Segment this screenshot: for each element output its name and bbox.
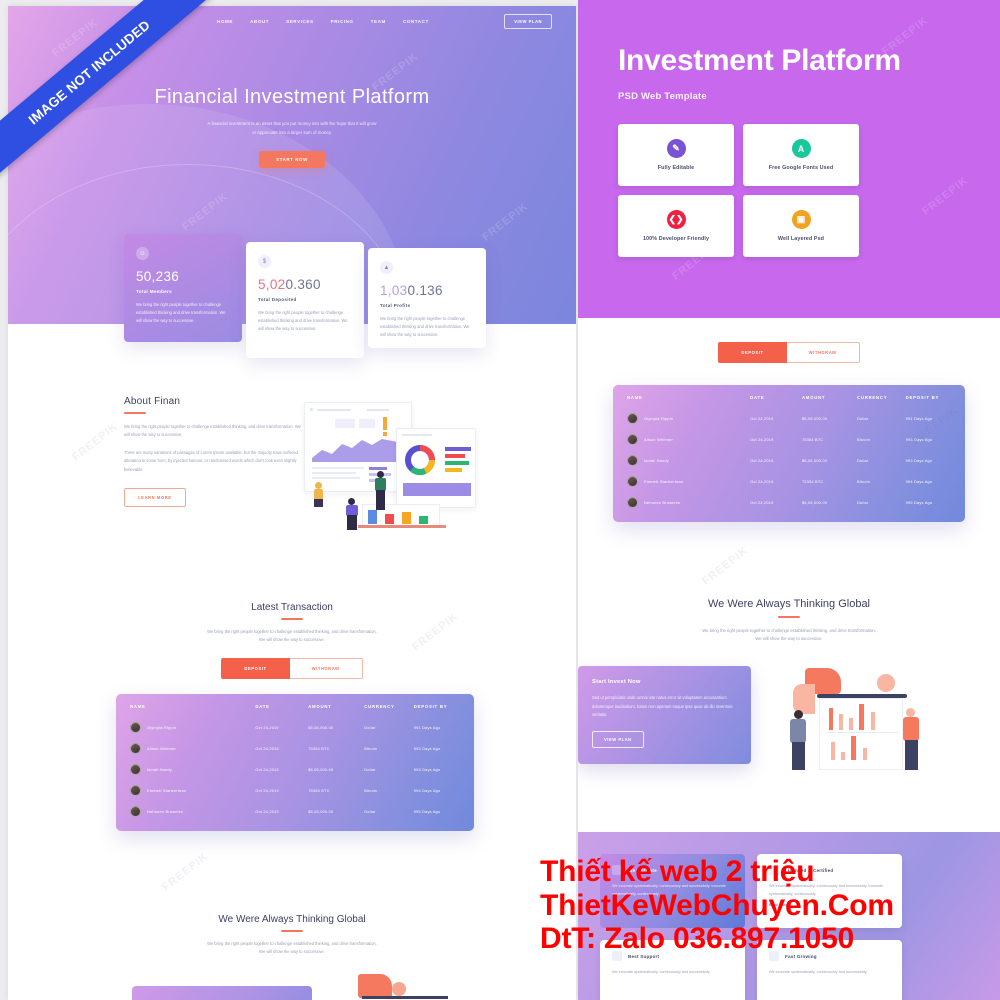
column-deposit-by: DEPOSIT BY	[906, 395, 951, 400]
column-amount: AMOUNT	[308, 704, 364, 709]
nav-item-home[interactable]: HOME	[217, 19, 233, 24]
stat-value-highlight: 5,02	[258, 277, 285, 292]
hero-subtitle-line1: A financial investment is an asset that …	[8, 120, 576, 129]
cell-deposit-by: 993 Days Ago	[414, 767, 460, 772]
stat-value-rest: 0.136	[407, 283, 442, 298]
cell-date: Oct 24,2019	[255, 809, 308, 814]
cell-amount: $5,05,000.00	[308, 725, 364, 730]
illustration-person-left	[787, 710, 811, 772]
avatar	[627, 455, 638, 466]
feature-label: 100% Developer Friendly	[643, 236, 709, 242]
right-global-section: We Were Always Thinking Global We bring …	[578, 580, 1000, 778]
about-title: About Finan	[124, 396, 304, 407]
global-subtitle-line1: We bring the right people together to ch…	[8, 940, 576, 949]
column-currency: CURRENCY	[364, 704, 414, 709]
cell-name: Alison Whitmer	[130, 743, 255, 754]
stat-label: Total Members	[136, 289, 230, 294]
avatar	[627, 413, 638, 424]
table-row[interactable]: Nehonee Brownies Oct 24,2019 $5,05,000.0…	[116, 801, 474, 831]
table-header-row: NAME DATE AMOUNT CURRENCY DEPOSIT BY	[116, 694, 474, 717]
cell-currency: Bitcoin	[857, 479, 906, 484]
stat-value-rest: 0.360	[285, 277, 320, 292]
avatar	[130, 743, 141, 754]
stat-label: Total Profits	[380, 303, 474, 308]
right-transaction-toggle: DEPOSIT WITHDRAW	[578, 342, 1000, 363]
illustration-person-1	[313, 482, 325, 512]
stat-text: We bring the right people together to ch…	[380, 315, 474, 340]
cell-amount: 75354 BTC	[802, 437, 857, 442]
start-now-button[interactable]: START NOW	[259, 151, 325, 168]
illustration-tray-base	[358, 525, 446, 528]
cell-currency: Bitcoin	[857, 437, 906, 442]
avatar	[130, 722, 141, 733]
stat-text: We bring the right people together to ch…	[136, 301, 230, 326]
illustration-person-2	[374, 471, 388, 513]
font-a-icon: A	[792, 139, 811, 158]
table-row[interactable]: Nehonee Brownies Oct 24,2019 $5,05,000.0…	[613, 492, 965, 522]
global-illustration	[783, 666, 938, 778]
cell-currency: Dollar	[364, 767, 414, 772]
cell-deposit-by: 994 Days Ago	[414, 788, 460, 793]
table-row[interactable]: Olympia Rippin Oct 24,2019 $5,05,000.00 …	[116, 717, 474, 738]
cell-amount: 75354 BTC	[308, 746, 364, 751]
cell-amount: $5,05,000.00	[802, 458, 857, 463]
global-illustration-left	[338, 974, 458, 1000]
cell-date: Oct 24,2019	[750, 500, 802, 505]
cell-date: Oct 24,2019	[750, 437, 802, 442]
stat-text: We bring the right people together to ch…	[258, 309, 352, 334]
transactions-table: NAME DATE AMOUNT CURRENCY DEPOSIT BY Oly…	[116, 694, 474, 831]
column-date: DATE	[255, 704, 308, 709]
feature-card-google-fonts[interactable]: A Free Google Fonts Used	[743, 124, 859, 186]
cell-amount: $5,05,000.00	[802, 416, 857, 421]
top-navigation: HOME ABOUT SERVICES PRICING TEAM CONTACT…	[8, 6, 576, 36]
cell-amount: 75354 BTC	[802, 479, 857, 484]
avatar	[130, 764, 141, 775]
table-row[interactable]: Alison Whitmer Oct 24,2019 75354 BTC Bit…	[613, 429, 965, 450]
cell-date: Oct 24,2019	[255, 788, 308, 793]
transaction-type-toggle: DEPOSIT WITHDRAW	[8, 658, 576, 679]
table-row[interactable]: Ismail Handy Oct 24,2019 $5,05,000.00 Do…	[613, 450, 965, 471]
cell-name: Nehonee Brownies	[130, 806, 255, 817]
stats-cards: ☺ 50,236 Total Members We bring the righ…	[124, 242, 486, 358]
stock-watermark: FREEPIK	[160, 850, 210, 893]
pencil-edit-icon: ✎	[667, 139, 686, 158]
hero-content: Financial Investment Platform A financia…	[8, 86, 576, 168]
nav-item-services[interactable]: SERVICES	[286, 19, 314, 24]
transactions-title: Latest Transaction	[8, 602, 576, 613]
feature-cards: ✎ Fully Editable A Free Google Fonts Use…	[578, 102, 1000, 257]
cell-currency: Dollar	[857, 416, 906, 421]
right-transactions-table: NAME DATE AMOUNT CURRENCY DEPOSIT BY Oly…	[613, 385, 965, 522]
tab-withdraw[interactable]: WITHDRAW	[787, 342, 860, 363]
stat-value: 1,030.136	[380, 283, 474, 298]
stock-watermark: FREEPIK	[480, 200, 530, 243]
tab-withdraw[interactable]: WITHDRAW	[290, 658, 363, 679]
cell-date: Oct 24,2019	[255, 767, 308, 772]
feature-card-developer-friendly[interactable]: ❮❯ 100% Developer Friendly	[618, 195, 734, 257]
stock-watermark: FREEPIK	[180, 190, 230, 233]
feature-card-well-layered[interactable]: ▣ Well Layered Psd	[743, 195, 859, 257]
cell-amount: $5,05,000.00	[802, 500, 857, 505]
cell-name: Emmett Stankerbran	[130, 785, 255, 796]
stat-card-deposited[interactable]: $ 5,020.360 Total Deposited We bring the…	[246, 242, 364, 358]
title-underline	[281, 618, 303, 620]
transactions-subtitle-line1: We bring the right people together to ch…	[8, 628, 576, 637]
title-underline	[281, 930, 303, 932]
global-subtitle-line2: We will show the way to successive.	[578, 635, 1000, 644]
feature-card-fully-editable[interactable]: ✎ Fully Editable	[618, 124, 734, 186]
stat-card-members[interactable]: ☺ 50,236 Total Members We bring the righ…	[124, 234, 242, 342]
bottom-card-text: We innovate systematically, continuously…	[612, 969, 733, 977]
column-date: DATE	[750, 395, 802, 400]
feature-label: Free Google Fonts Used	[769, 165, 834, 171]
screenshot-stage: FREEPIK FREEPIK FREEPIK FREEPIK HOME ABO…	[0, 0, 1000, 1000]
column-deposit-by: DEPOSIT BY	[414, 704, 460, 709]
global-header: We Were Always Thinking Global We bring …	[8, 914, 576, 957]
right-hero-section: FREEPIK FREEPIK FREEPIK Investment Platf…	[578, 0, 1000, 318]
stat-value-highlight: 1,03	[380, 283, 407, 298]
cell-currency: Dollar	[857, 500, 906, 505]
nav-item-about[interactable]: ABOUT	[250, 19, 269, 24]
cell-currency: Dollar	[857, 458, 906, 463]
cell-deposit-by: 994 Days Ago	[906, 479, 951, 484]
cell-date: Oct 24,2019	[750, 416, 802, 421]
table-row[interactable]: Ismail Handy Oct 24,2019 $5,05,000.00 Do…	[116, 759, 474, 780]
cell-amount: $5,05,000.00	[308, 767, 364, 772]
avatar	[627, 434, 638, 445]
left-page-preview: FREEPIK FREEPIK FREEPIK FREEPIK HOME ABO…	[8, 6, 576, 1000]
learn-more-button[interactable]: LEARN MORE	[124, 488, 186, 507]
column-amount: AMOUNT	[802, 395, 857, 400]
cell-currency: Dollar	[364, 725, 414, 730]
transactions-header: Latest Transaction We bring the right pe…	[8, 602, 576, 679]
cell-deposit-by: 993 Days Ago	[414, 746, 460, 751]
hero-subtitle: A financial investment is an asset that …	[8, 120, 576, 137]
global-title: We Were Always Thinking Global	[8, 914, 576, 925]
layers-icon: ▣	[792, 210, 811, 229]
cell-deposit-by: 995 Days Ago	[414, 809, 460, 814]
cell-date: Oct 24,2019	[750, 479, 802, 484]
dollar-icon: $	[258, 255, 271, 268]
cell-name: Ismail Handy	[130, 764, 255, 775]
watermark-line-1: Thiết kế web 2 triệu	[540, 855, 894, 889]
right-transactions-section: DEPOSIT WITHDRAW NAME DATE AMOUNT CURREN…	[578, 318, 1000, 522]
about-paragraph-2: There are many variations of passages of…	[124, 449, 304, 475]
stat-card-profits[interactable]: ▲ 1,030.136 Total Profits We bring the r…	[368, 248, 486, 348]
nav-item-team[interactable]: TEAM	[371, 19, 386, 24]
start-invest-card[interactable]: Start Invest Now Sed ut perspiciatis und…	[578, 666, 751, 764]
hero-subtitle-line2: or appreciate into a larger sum of money…	[8, 129, 576, 138]
global-subtitle-line1: We bring the right people together to ch…	[578, 627, 1000, 636]
cell-deposit-by: 995 Days Ago	[906, 500, 951, 505]
cell-currency: Bitcoin	[364, 746, 414, 751]
cell-name: Emmett Stankerbran	[627, 476, 750, 487]
cell-deposit-by: 991 Days Ago	[414, 725, 460, 730]
illustration-analytics-card	[396, 428, 476, 508]
watermark-line-2: ThietKeWebChuyen.Com	[540, 889, 894, 923]
column-name: NAME	[627, 395, 750, 400]
start-invest-card-left[interactable]	[132, 986, 312, 1000]
cell-amount: $5,05,000.00	[308, 809, 364, 814]
right-subtitle: PSD Web Template	[578, 78, 1000, 102]
table-row[interactable]: Olympia Rippin Oct 24,2019 $5,05,000.00 …	[613, 408, 965, 429]
about-section: About Finan We bring the right people to…	[124, 396, 304, 507]
cell-date: Oct 24,2019	[750, 458, 802, 463]
nav-item-pricing[interactable]: PRICING	[331, 19, 354, 24]
view-plan-button[interactable]: VIEW PLAN	[592, 731, 644, 748]
table-header-row: NAME DATE AMOUNT CURRENCY DEPOSIT BY	[613, 385, 965, 408]
bottom-card-text: We innovate systematically, continuously…	[769, 969, 890, 977]
right-title: Investment Platform	[578, 0, 1000, 78]
cell-name: Olympia Rippin	[130, 722, 255, 733]
illustration-person-right	[901, 708, 925, 772]
cell-name: Alison Whitmer	[627, 434, 750, 445]
cell-deposit-by: 993 Days Ago	[906, 458, 951, 463]
table-row[interactable]: Alison Whitmer Oct 24,2019 75354 BTC Bit…	[116, 738, 474, 759]
tab-deposit[interactable]: DEPOSIT	[221, 658, 289, 679]
global-title: We Were Always Thinking Global	[578, 598, 1000, 610]
watermark-line-3: DtT: Zalo 036.897.1050	[540, 922, 894, 956]
about-paragraph-1: We bring the right people together to ch…	[124, 423, 304, 440]
cell-amount: 75354 BTC	[308, 788, 364, 793]
feature-label: Well Layered Psd	[778, 236, 824, 242]
stat-value: 5,020.360	[258, 277, 352, 292]
feature-label: Fully Editable	[658, 165, 694, 171]
avatar	[130, 785, 141, 796]
tab-deposit[interactable]: DEPOSIT	[718, 342, 786, 363]
advertisement-watermark: Thiết kế web 2 triệu ThietKeWebChuyen.Co…	[540, 855, 894, 956]
cell-date: Oct 24,2019	[255, 746, 308, 751]
stat-label: Total Deposited	[258, 297, 352, 302]
start-card-title: Start Invest Now	[592, 679, 737, 685]
title-underline	[778, 616, 800, 618]
stock-watermark: FREEPIK	[70, 420, 120, 463]
view-plan-button[interactable]: VIEW PLAN	[504, 14, 552, 29]
cell-currency: Bitcoin	[364, 788, 414, 793]
column-name: NAME	[130, 704, 255, 709]
illustration-person-3	[345, 498, 361, 530]
avatar	[130, 806, 141, 817]
users-icon: ☺	[136, 247, 149, 260]
cell-deposit-by: 993 Days Ago	[906, 437, 951, 442]
about-illustration	[300, 398, 480, 548]
table-row[interactable]: Emmett Stankerbran Oct 24,2019 75354 BTC…	[116, 780, 474, 801]
table-row[interactable]: Emmett Stankerbran Oct 24,2019 75354 BTC…	[613, 471, 965, 492]
chart-icon: ▲	[380, 261, 393, 274]
start-card-text: Sed ut perspiciatis unde omnis iste natu…	[592, 694, 737, 719]
right-page-preview: FREEPIK FREEPIK FREEPIK Investment Platf…	[578, 0, 1000, 1000]
cell-date: Oct 24,2019	[255, 725, 308, 730]
cell-name: Nehonee Brownies	[627, 497, 750, 508]
cell-name: Ismail Handy	[627, 455, 750, 466]
cell-deposit-by: 991 Days Ago	[906, 416, 951, 421]
stat-value: 50,236	[136, 269, 230, 284]
transactions-subtitle-line2: We will show the way to successive.	[8, 636, 576, 645]
global-subtitle-line2: We will show the way to successive.	[8, 948, 576, 957]
cell-name: Olympia Rippin	[627, 413, 750, 424]
avatar	[627, 497, 638, 508]
avatar	[627, 476, 638, 487]
cell-currency: Dollar	[364, 809, 414, 814]
title-underline	[124, 412, 146, 414]
code-badge-icon: ❮❯	[667, 210, 686, 229]
nav-item-contact[interactable]: CONTACT	[403, 19, 429, 24]
nav-links: HOME ABOUT SERVICES PRICING TEAM CONTACT	[217, 19, 429, 24]
column-currency: CURRENCY	[857, 395, 906, 400]
